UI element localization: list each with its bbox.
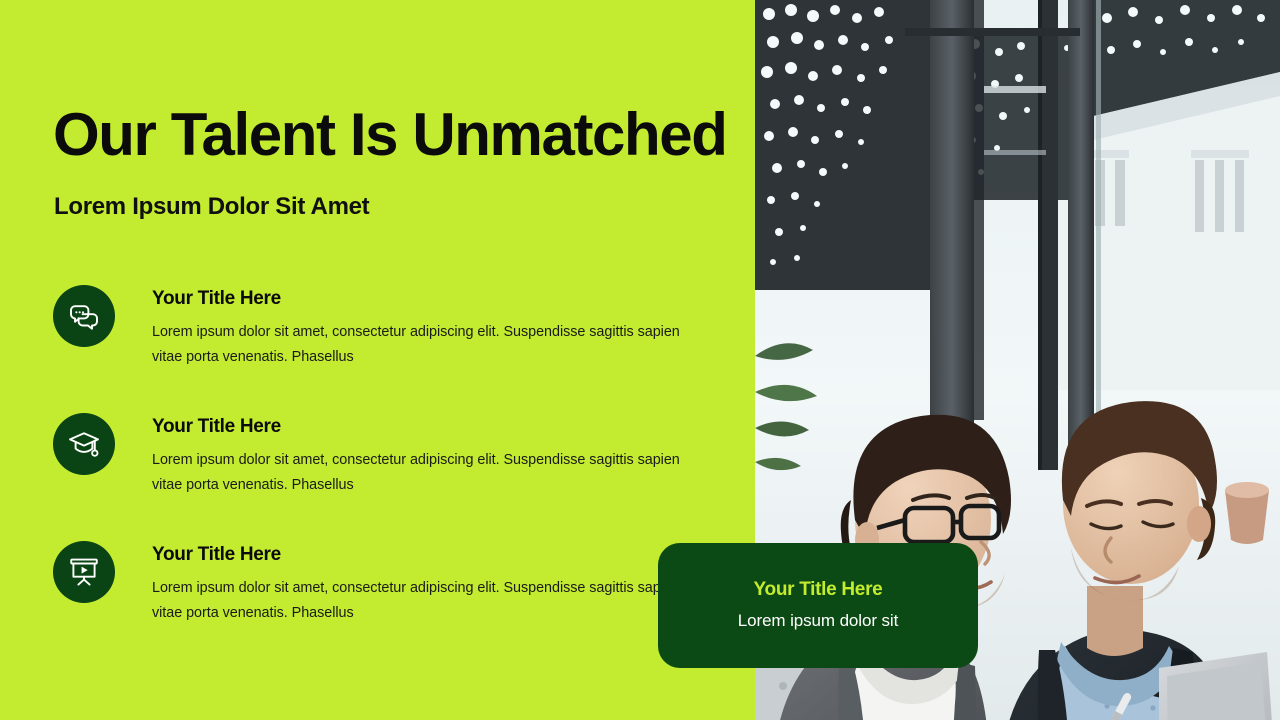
list-item[interactable]: Your Title Here Lorem ipsum dolor sit am…	[53, 413, 693, 541]
caption-card[interactable]: Your Title Here Lorem ipsum dolor sit	[658, 543, 978, 668]
feature-text-block: Your Title Here Lorem ipsum dolor sit am…	[152, 416, 692, 499]
caption-subtitle: Lorem ipsum dolor sit	[738, 611, 898, 631]
list-item[interactable]: Your Title Here Lorem ipsum dolor sit am…	[53, 541, 693, 669]
feature-icon-badge	[53, 413, 115, 475]
feature-description: Lorem ipsum dolor sit amet, consectetur …	[152, 448, 692, 499]
caption-title: Your Title Here	[754, 579, 883, 602]
chat-bubbles-icon	[67, 299, 101, 333]
feature-list: Your Title Here Lorem ipsum dolor sit am…	[53, 285, 693, 669]
presentation-play-icon	[67, 555, 101, 589]
page-subtitle: Lorem Ipsum Dolor Sit Amet	[54, 193, 369, 221]
feature-text-block: Your Title Here Lorem ipsum dolor sit am…	[152, 288, 692, 371]
feature-text-block: Your Title Here Lorem ipsum dolor sit am…	[152, 544, 692, 627]
page-title: Our Talent Is Unmatched	[53, 103, 726, 166]
graduation-cap-icon	[67, 427, 101, 461]
feature-description: Lorem ipsum dolor sit amet, consectetur …	[152, 576, 692, 627]
list-item[interactable]: Your Title Here Lorem ipsum dolor sit am…	[53, 285, 693, 413]
feature-title: Your Title Here	[152, 288, 692, 311]
feature-description: Lorem ipsum dolor sit amet, consectetur …	[152, 320, 692, 371]
presentation-slide: Our Talent Is Unmatched Lorem Ipsum Dolo…	[0, 0, 1280, 720]
feature-icon-badge	[53, 541, 115, 603]
left-content-panel: Our Talent Is Unmatched Lorem Ipsum Dolo…	[0, 0, 755, 720]
feature-title: Your Title Here	[152, 416, 692, 439]
feature-title: Your Title Here	[152, 544, 692, 567]
feature-icon-badge	[53, 285, 115, 347]
